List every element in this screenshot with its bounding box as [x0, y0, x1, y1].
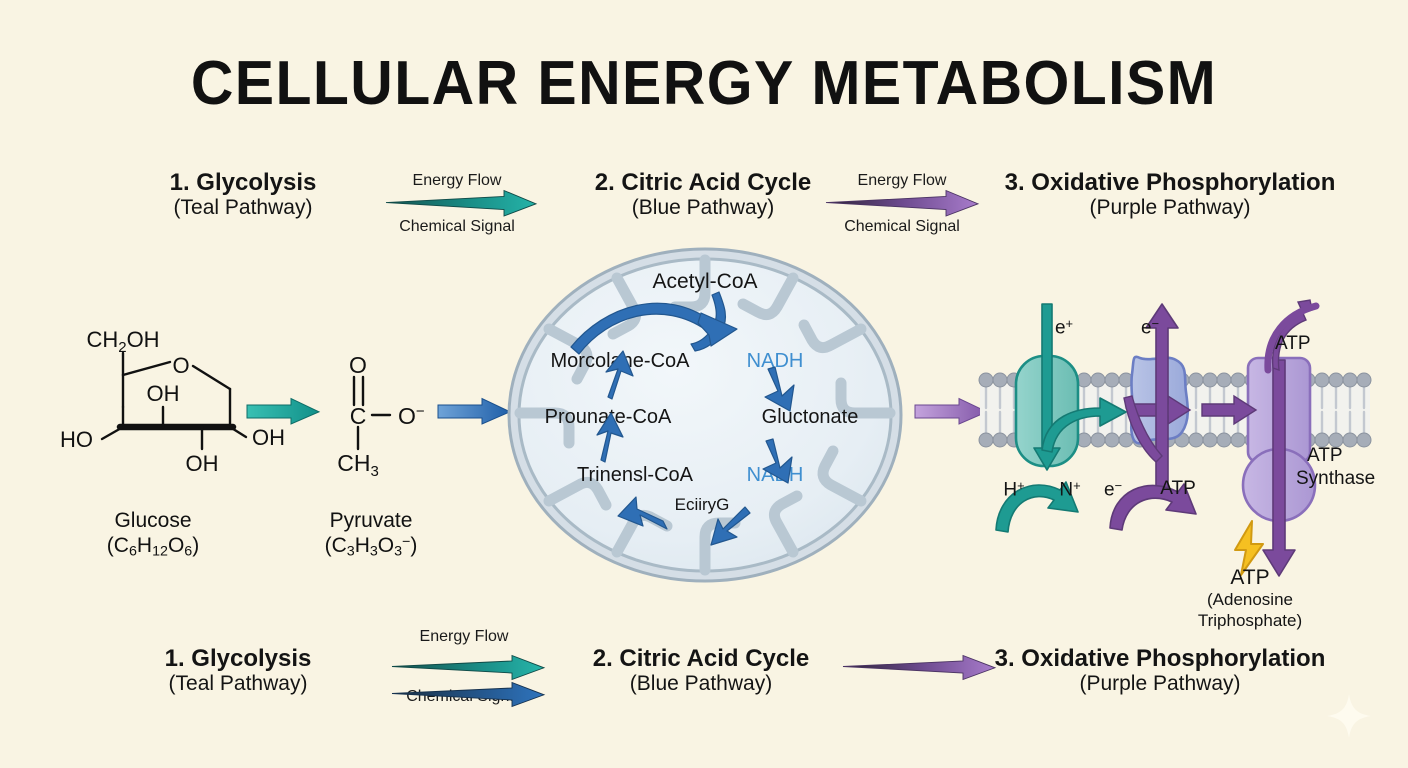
stage-subtitle: (Teal Pathway)	[165, 672, 312, 697]
atp-output-label: ATP	[1198, 565, 1302, 590]
sparkle-icon	[1325, 692, 1373, 740]
pyruvate-label-central-carbon: C	[350, 403, 367, 429]
legend-arrow-teal	[392, 655, 544, 681]
reaction-arrow-cycle-to-etc	[915, 398, 987, 426]
stage-subtitle: (Purple Pathway)	[1005, 196, 1336, 221]
glucose-name: Glucose	[107, 508, 199, 533]
legend-arrow-blue	[392, 682, 544, 708]
etc-label-e-minus-top: e−	[1141, 316, 1159, 339]
pyruvate-label-carbonyl-oxygen: O	[349, 352, 367, 378]
stage-heading-citric-acid-cycle-top: 2. Citric Acid Cycle (Blue Pathway)	[595, 170, 812, 221]
legend-arrow-purple	[843, 655, 995, 681]
connector-arrow-caption-below-2: Chemical Signal	[844, 218, 960, 236]
glucose-label-ho-left: HO	[60, 427, 93, 452]
connector-arrow-caption-below-1: Chemical Signal	[399, 218, 515, 236]
stage-subtitle: (Purple Pathway)	[995, 672, 1326, 697]
glucose-label-ch2oh: CH2OH	[86, 327, 159, 356]
connector-arrow-caption-above-1: Energy Flow	[413, 172, 502, 190]
etc-label-h-plus: H+	[1003, 478, 1024, 501]
connector-arrow-teal-1	[386, 190, 536, 218]
stage-heading-glycolysis-top: 1. Glycolysis (Teal Pathway)	[170, 170, 317, 221]
pyruvate-caption: Pyruvate (C3H3O3−)	[325, 508, 418, 561]
etc-label-n-plus: N+	[1059, 478, 1080, 501]
stage-title: 3. Oxidative Phosphorylation	[995, 646, 1326, 672]
pyruvate-label-methyl: CH3	[337, 450, 379, 480]
atp-output-sub2: Triphosphate)	[1198, 611, 1302, 631]
reaction-arrow-glucose-to-pyruvate	[247, 398, 319, 426]
atp-output-sub1: (Adenosine	[1198, 590, 1302, 610]
glucose-caption: Glucose (C6H12O6)	[107, 508, 199, 561]
cycle-arrows	[505, 245, 905, 585]
connector-arrow-caption-above-2: Energy Flow	[858, 172, 947, 190]
glucose-label-oh-inner: OH	[147, 381, 180, 406]
etc-label-atp-output: ATP	[1275, 333, 1311, 355]
etc-label-e-plus: e+	[1055, 316, 1073, 339]
stage-subtitle: (Teal Pathway)	[170, 196, 317, 221]
stage-subtitle: (Blue Pathway)	[595, 196, 812, 221]
reaction-arrow-pyruvate-to-cycle	[438, 398, 510, 426]
etc-label-atp-synthase-line1: ATP	[1307, 445, 1343, 467]
stage-title: 2. Citric Acid Cycle	[593, 646, 810, 672]
legend-arrow-caption-above: Energy Flow	[420, 628, 509, 646]
etc-label-atp-synthase-line2: Synthase	[1296, 468, 1375, 490]
diagram-canvas: CELLULAR ENERGY METABOLISM 1. Glycolysis…	[0, 0, 1408, 768]
glucose-label-oh-right: OH	[252, 425, 285, 450]
stage-title: 1. Glycolysis	[170, 170, 317, 196]
connector-arrow-purple-1	[826, 190, 978, 218]
pyruvate-formula: (C3H3O3−)	[325, 533, 418, 561]
pyruvate-name: Pyruvate	[325, 508, 418, 533]
stage-title: 2. Citric Acid Cycle	[595, 170, 812, 196]
glucose-label-oh-bottom: OH	[186, 451, 219, 476]
stage-heading-glycolysis-bottom: 1. Glycolysis (Teal Pathway)	[165, 646, 312, 697]
pyruvate-label-carboxylate: O−	[398, 403, 425, 429]
stage-title: 1. Glycolysis	[165, 646, 312, 672]
pyruvate-structure: O C O− CH3	[320, 345, 450, 485]
stage-subtitle: (Blue Pathway)	[593, 672, 810, 697]
etc-label-atp-middle: ATP	[1160, 478, 1196, 500]
stage-heading-citric-acid-cycle-bottom: 2. Citric Acid Cycle (Blue Pathway)	[593, 646, 810, 697]
glucose-label-ring-oxygen: O	[172, 353, 189, 378]
stage-heading-oxidative-phosphorylation-top: 3. Oxidative Phosphorylation (Purple Pat…	[1005, 170, 1336, 221]
etc-label-e-minus-bottom: e−	[1104, 478, 1122, 501]
glucose-formula: (C6H12O6)	[107, 533, 199, 561]
stage-title: 3. Oxidative Phosphorylation	[1005, 170, 1336, 196]
page-title: CELLULAR ENERGY METABOLISM	[191, 48, 1217, 119]
atp-output-caption: ATP (Adenosine Triphosphate)	[1198, 565, 1302, 631]
stage-heading-oxidative-phosphorylation-bottom: 3. Oxidative Phosphorylation (Purple Pat…	[995, 646, 1326, 697]
